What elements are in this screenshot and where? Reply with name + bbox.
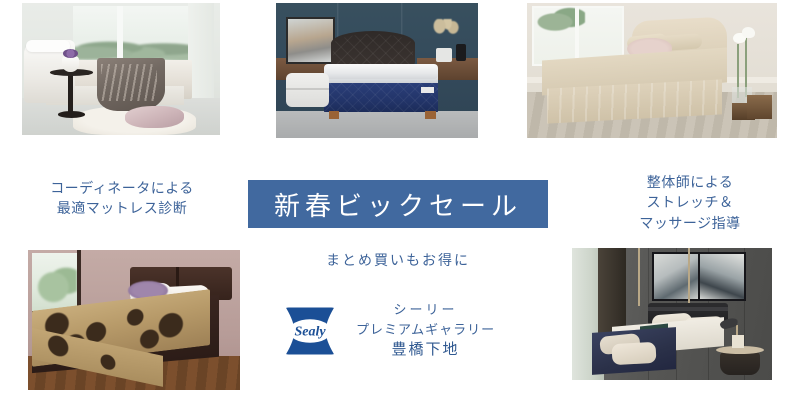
promo-banner-canvas: コーディネータによる 最適マットレス診断 新春ビックセール 整体師による ストレ… (0, 0, 800, 400)
photo-modern-dark-bedroom (572, 248, 772, 380)
brand-line3: 豊橋下地 (356, 339, 495, 362)
photo-navy-mattress (276, 3, 478, 138)
photo-white-bedroom (22, 3, 220, 135)
svg-text:Sealy: Sealy (294, 324, 326, 339)
bulk-discount-text: まとめ買いもお得に (248, 250, 548, 270)
brand-line2: プレミアムギャラリー (356, 320, 495, 340)
feature-right-text: 整体師による ストレッチ＆ マッサージ指導 (600, 172, 780, 233)
feature-right-line1: 整体師による (600, 172, 780, 192)
bulk-discount-line1: まとめ買いもお得に (248, 250, 548, 270)
sale-banner-title: 新春ビックセール (274, 186, 522, 223)
sale-banner: 新春ビックセール (248, 180, 548, 228)
feature-left-line1: コーディネータによる (22, 178, 222, 198)
feature-right-line3: マッサージ指導 (600, 213, 780, 233)
feature-right-line2: ストレッチ＆ (600, 192, 780, 212)
brand-line1: シーリー (356, 300, 495, 320)
brand-lockup: Sealy シーリー プレミアムギャラリー 豊橋下地 (282, 300, 532, 362)
photo-beige-bed (527, 3, 777, 138)
photo-damask-bed (28, 250, 240, 390)
feature-left-text: コーディネータによる 最適マットレス診断 (22, 178, 222, 219)
feature-left-line2: 最適マットレス診断 (22, 198, 222, 218)
brand-store-name: シーリー プレミアムギャラリー 豊橋下地 (356, 300, 495, 362)
sealy-logo-icon: Sealy (282, 303, 338, 359)
